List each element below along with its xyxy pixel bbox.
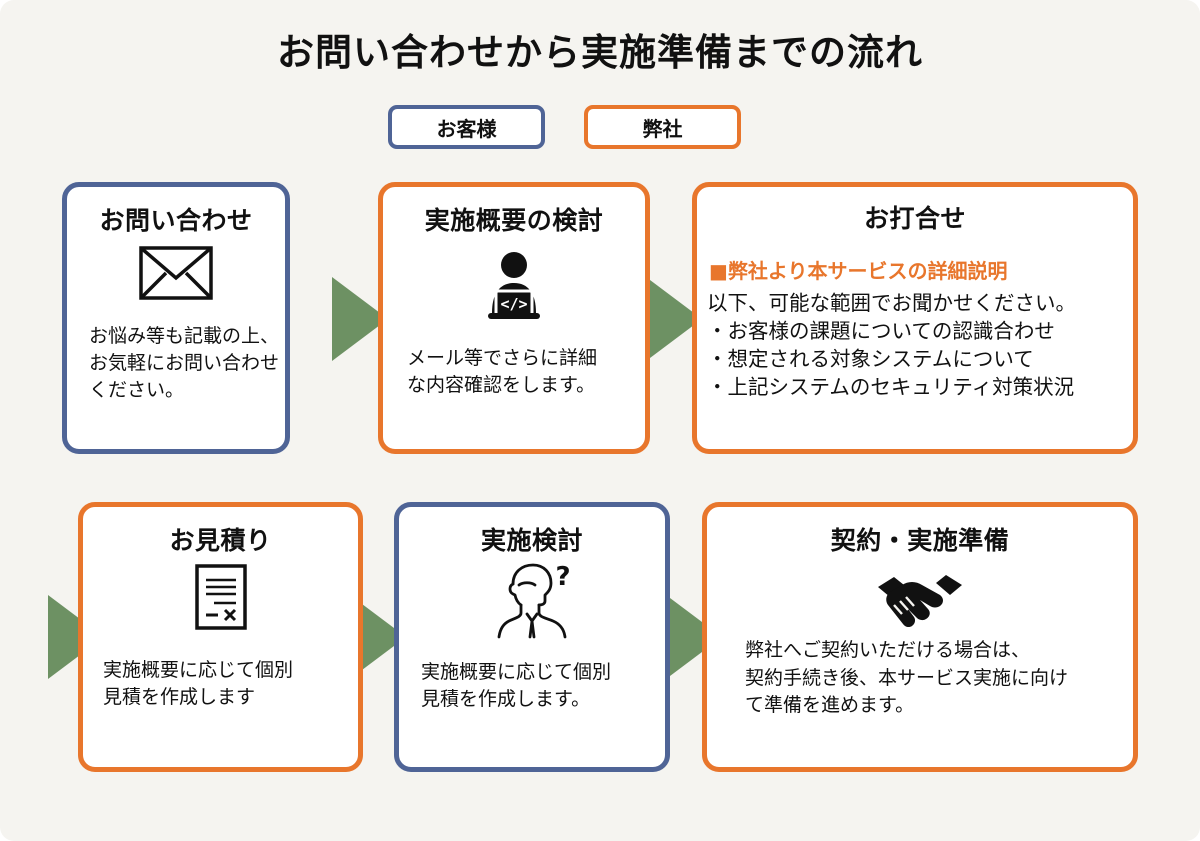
legend-company: 弊社 — [584, 105, 741, 149]
card-quote[interactable]: お見積り 実施概要に応じて個別 見積を作成します — [78, 502, 363, 772]
card-quote-body-line: 実施概要に応じて個別 — [103, 657, 358, 684]
card-inquiry[interactable]: お問い合わせ お悩み等も記載の上、 お気軽にお問い合わせ ください。 — [62, 182, 290, 454]
card-contract[interactable]: 契約・実施準備 弊社へご契約いただける場合は、 契約手続き後、本サービス実施に向… — [702, 502, 1138, 772]
card-contract-body: 弊社へご契約いただける場合は、 契約手続き後、本サービス実施に向け て準備を進め… — [745, 637, 1133, 720]
card-inquiry-body-line: ください。 — [89, 377, 285, 404]
card-overview-body: メール等でさらに詳細 な内容確認をします。 — [407, 345, 645, 399]
card-consider-title: 実施検討 — [399, 521, 665, 557]
card-quote-body: 実施概要に応じて個別 見積を作成します — [103, 657, 358, 711]
handshake-icon — [707, 569, 1133, 631]
card-meeting-body-line: ・お客様の課題についての認識合わせ — [707, 318, 1133, 346]
legend-customer-label: お客様 — [437, 113, 497, 142]
card-contract-body-line: 弊社へご契約いただける場合は、 — [745, 637, 1133, 665]
card-inquiry-body-line: お気軽にお問い合わせ — [89, 350, 285, 377]
legend-customer: お客様 — [388, 105, 545, 149]
card-consider-body-line: 見積を作成します。 — [421, 686, 665, 713]
card-quote-body-line: 見積を作成します — [103, 684, 358, 711]
card-overview[interactable]: 実施概要の検討 </> メール等でさらに詳細 な内容確認をします。 — [378, 182, 650, 454]
card-overview-body-line: な内容確認をします。 — [407, 372, 645, 399]
card-meeting-body-line: ・上記システムのセキュリティ対策状況 — [707, 374, 1133, 402]
envelope-icon — [67, 245, 285, 301]
card-meeting-body-line: 以下、可能な範囲でお聞かせください。 — [707, 290, 1133, 318]
legend-company-label: 弊社 — [643, 113, 683, 142]
document-estimate-icon — [83, 563, 358, 631]
card-overview-title: 実施概要の検討 — [383, 201, 645, 237]
person-laptop-code-icon: </> — [383, 251, 645, 323]
card-quote-title: お見積り — [83, 521, 358, 557]
card-meeting-body-line: ・想定される対象システムについて — [707, 346, 1133, 374]
card-meeting[interactable]: お打合せ ■弊社より本サービスの詳細説明 以下、可能な範囲でお聞かせください。 … — [692, 182, 1138, 454]
svg-text:?: ? — [555, 562, 570, 592]
card-meeting-subheading: ■弊社より本サービスの詳細説明 — [709, 255, 1133, 284]
card-overview-body-line: メール等でさらに詳細 — [407, 345, 645, 372]
card-consider-body-line: 実施概要に応じて個別 — [421, 659, 665, 686]
svg-text:</>: </> — [500, 295, 527, 313]
flow-diagram-canvas: お問い合わせから実施準備までの流れ お客様 弊社 お問い合わせ お悩み等も記載の… — [0, 0, 1200, 841]
card-inquiry-body-line: お悩み等も記載の上、 — [89, 323, 285, 350]
card-contract-title: 契約・実施準備 — [707, 521, 1133, 557]
thinking-person-icon: ? — [399, 559, 665, 641]
card-contract-body-line: 契約手続き後、本サービス実施に向け — [745, 665, 1133, 693]
card-meeting-title: お打合せ — [697, 199, 1133, 235]
page-title: お問い合わせから実施準備までの流れ — [0, 22, 1200, 76]
card-meeting-body: 以下、可能な範囲でお聞かせください。 ・お客様の課題についての認識合わせ ・想定… — [707, 290, 1133, 402]
card-contract-body-line: て準備を進めます。 — [745, 692, 1133, 720]
card-consider-body: 実施概要に応じて個別 見積を作成します。 — [421, 659, 665, 713]
card-consider[interactable]: 実施検討 ? 実施概要に応じて個別 見積を作成します。 — [394, 502, 670, 772]
card-inquiry-title: お問い合わせ — [67, 201, 285, 237]
card-inquiry-body: お悩み等も記載の上、 お気軽にお問い合わせ ください。 — [89, 323, 285, 404]
